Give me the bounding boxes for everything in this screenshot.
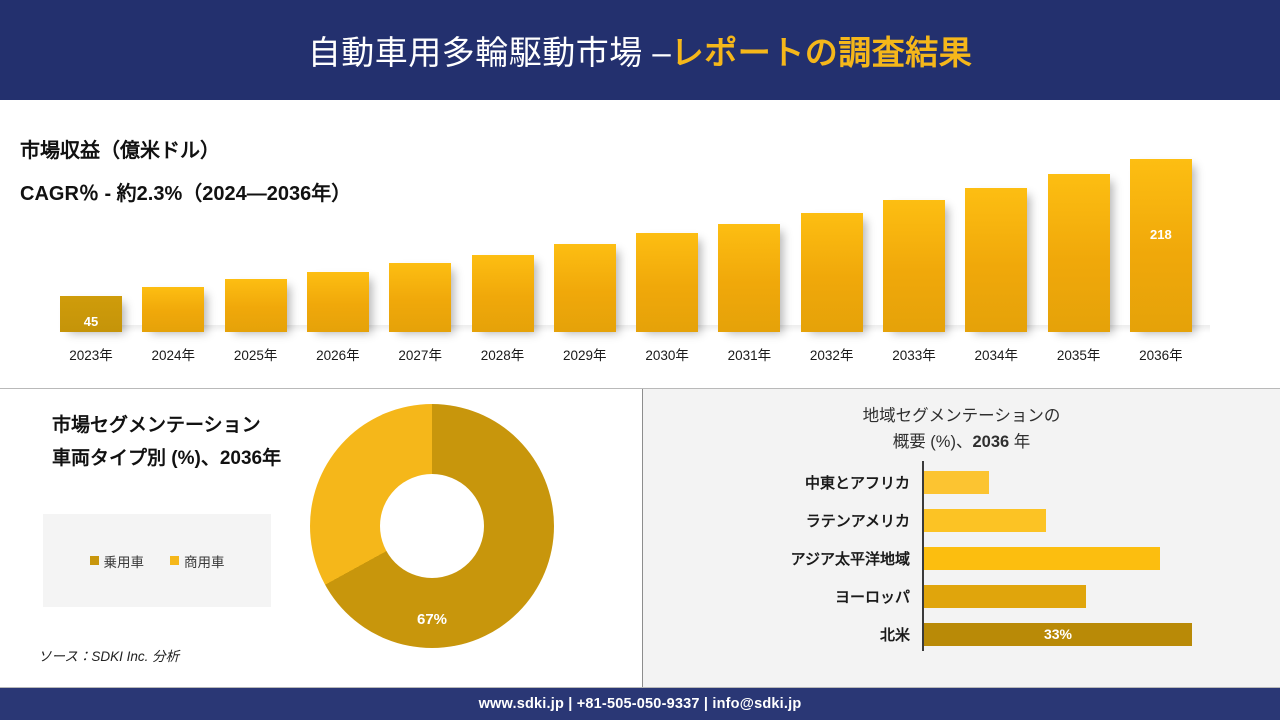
bar: 2027年 bbox=[389, 263, 451, 332]
page-footer: www.sdki.jp | +81-505-050-9337 | info@sd… bbox=[0, 688, 1280, 720]
bar: 2032年 bbox=[801, 213, 863, 332]
bar-column: 2024年 bbox=[142, 287, 204, 332]
segmentation-panel: 市場セグメンテーション 車両タイプ別 (%)、2036年 乗用車 商用車 67%… bbox=[0, 389, 642, 687]
region-bar: 33% bbox=[924, 623, 1192, 646]
region-label: 中東とアフリカ bbox=[700, 472, 910, 493]
bar: 452023年 bbox=[60, 296, 122, 332]
bar-category-label: 2027年 bbox=[381, 344, 459, 364]
bar: 2026年 bbox=[307, 272, 369, 332]
page-title: 自動車用多輪駆動市場 –レポートの調査結果 bbox=[308, 26, 973, 74]
legend-label-commercial: 商用車 bbox=[184, 551, 225, 571]
region-row: 北米33% bbox=[643, 617, 1280, 655]
region-row: ラテンアメリカ bbox=[643, 503, 1280, 541]
region-label: ラテンアメリカ bbox=[700, 510, 910, 531]
region-bar bbox=[924, 547, 1160, 570]
regional-bar-series: 中東とアフリカラテンアメリカアジア太平洋地域ヨーロッパ北米33% bbox=[643, 461, 1280, 661]
donut-hole bbox=[380, 474, 484, 578]
bar: 2031年 bbox=[718, 224, 780, 332]
legend-item-commercial[interactable]: 商用車 bbox=[170, 551, 225, 571]
region-row: 中東とアフリカ bbox=[643, 465, 1280, 503]
bar-category-label: 2032年 bbox=[793, 344, 871, 364]
legend-swatch-passenger bbox=[90, 556, 99, 565]
region-bar bbox=[924, 471, 989, 494]
donut-ring: 67% bbox=[310, 404, 554, 648]
bar-column: 452023年 bbox=[60, 296, 122, 332]
bar-column: 2032年 bbox=[801, 213, 863, 332]
infographic-page: 自動車用多輪駆動市場 –レポートの調査結果 市場収益（億米ドル） CAGR％ -… bbox=[0, 0, 1280, 720]
bar-column: 2033年 bbox=[883, 200, 945, 332]
bar-category-label: 2026年 bbox=[299, 344, 377, 364]
bar-category-label: 2035年 bbox=[1040, 344, 1118, 364]
bar-series: 452023年2024年2025年2026年2027年2028年2029年203… bbox=[0, 100, 1280, 388]
bar-category-label: 2028年 bbox=[464, 344, 542, 364]
regional-title-line1: 地域セグメンテーションの bbox=[643, 403, 1280, 429]
region-bar bbox=[924, 509, 1046, 532]
region-label: アジア太平洋地域 bbox=[700, 548, 910, 569]
bar: 2024年 bbox=[142, 287, 204, 332]
region-bar bbox=[924, 585, 1086, 608]
bar-category-label: 2034年 bbox=[957, 344, 1035, 364]
region-label: ヨーロッパ bbox=[700, 586, 910, 607]
bar: 2033年 bbox=[883, 200, 945, 332]
bar-column: 2034年 bbox=[965, 188, 1027, 332]
bar-category-label: 2036年 bbox=[1122, 344, 1200, 364]
donut-legend: 乗用車 商用車 bbox=[43, 514, 271, 607]
bar-category-label: 2030年 bbox=[628, 344, 706, 364]
regional-title-suffix: 年 bbox=[1009, 433, 1030, 451]
bar: 2034年 bbox=[965, 188, 1027, 332]
bar-category-label: 2023年 bbox=[52, 344, 130, 364]
page-header: 自動車用多輪駆動市場 –レポートの調査結果 bbox=[0, 0, 1280, 100]
bar: 2035年 bbox=[1048, 174, 1110, 332]
page-title-main: 自動車用多輪駆動市場 bbox=[308, 34, 653, 71]
market-revenue-chart: 市場収益（億米ドル） CAGR％ - 約2.3%（2024―2036年） 452… bbox=[0, 100, 1280, 388]
regional-title-line2: 概要 (%)、2036 年 bbox=[643, 429, 1280, 455]
regional-title-year: 2036 bbox=[972, 433, 1009, 451]
source-note: ソース：SDKI Inc. 分析 bbox=[38, 645, 179, 665]
bar-value-label: 45 bbox=[60, 314, 122, 329]
bar: 2028年 bbox=[472, 255, 534, 332]
bar-column: 2031年 bbox=[718, 224, 780, 332]
region-value-label: 33% bbox=[924, 626, 1192, 642]
bar-category-label: 2033年 bbox=[875, 344, 953, 364]
footer-contact: www.sdki.jp | +81-505-050-9337 | info@sd… bbox=[479, 696, 802, 712]
donut-chart: 67% bbox=[310, 404, 554, 648]
regional-title-prefix: 概要 (%)、 bbox=[893, 433, 973, 451]
region-row: ヨーロッパ bbox=[643, 579, 1280, 617]
bar: 2030年 bbox=[636, 233, 698, 332]
segmentation-title-line2: 車両タイプ別 (%)、2036年 bbox=[52, 442, 281, 475]
legend-item-passenger[interactable]: 乗用車 bbox=[90, 551, 145, 571]
bar-category-label: 2031年 bbox=[710, 344, 788, 364]
page-title-dash: – bbox=[652, 34, 670, 71]
segmentation-title: 市場セグメンテーション 車両タイプ別 (%)、2036年 bbox=[52, 409, 281, 475]
legend-swatch-commercial bbox=[170, 556, 179, 565]
bar: 2025年 bbox=[225, 279, 287, 332]
segmentation-title-line1: 市場セグメンテーション bbox=[52, 409, 281, 442]
regional-title: 地域セグメンテーションの 概要 (%)、2036 年 bbox=[643, 403, 1280, 455]
region-row: アジア太平洋地域 bbox=[643, 541, 1280, 579]
bar-category-label: 2025年 bbox=[217, 344, 295, 364]
bar-column: 2026年 bbox=[307, 272, 369, 332]
bar-column: 2027年 bbox=[389, 263, 451, 332]
legend-label-passenger: 乗用車 bbox=[104, 551, 145, 571]
bar-category-label: 2024年 bbox=[134, 344, 212, 364]
page-title-accent: レポートの調査結果 bbox=[671, 34, 973, 71]
bar: 2029年 bbox=[554, 244, 616, 332]
donut-value-label: 67% bbox=[310, 611, 554, 628]
region-label: 北米 bbox=[700, 624, 910, 645]
bar-value-label: 218 bbox=[1130, 227, 1192, 242]
bar-column: 2028年 bbox=[472, 255, 534, 332]
bar-column: 2025年 bbox=[225, 279, 287, 332]
bar-column: 2029年 bbox=[554, 244, 616, 332]
bar-column: 2182036年 bbox=[1130, 159, 1192, 332]
bar: 2182036年 bbox=[1130, 159, 1192, 332]
bar-column: 2030年 bbox=[636, 233, 698, 332]
bar-category-label: 2029年 bbox=[546, 344, 624, 364]
regional-panel: 地域セグメンテーションの 概要 (%)、2036 年 中東とアフリカラテンアメリ… bbox=[643, 389, 1280, 687]
bar-column: 2035年 bbox=[1048, 174, 1110, 332]
